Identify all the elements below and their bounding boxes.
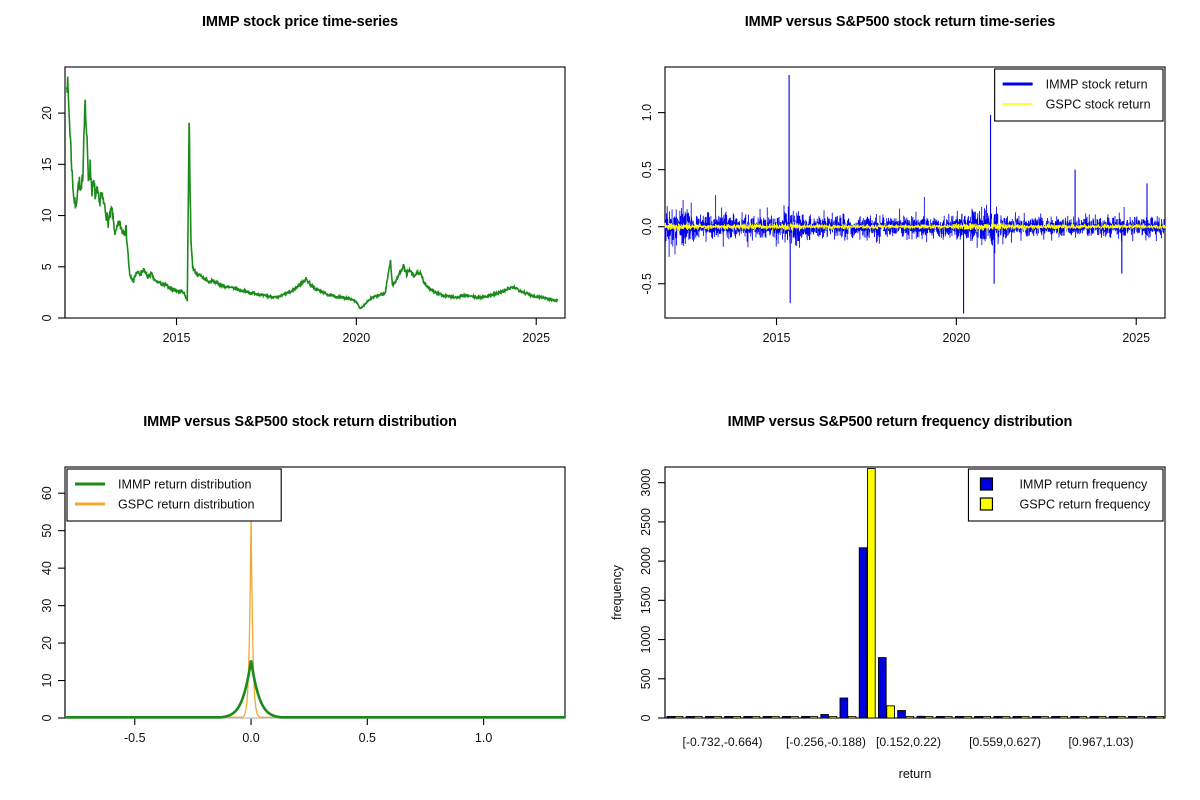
x-tick-label: 2015: [763, 331, 791, 345]
y-tick-label: 0: [639, 714, 653, 721]
y-tick-label: 30: [40, 599, 54, 613]
histogram-bar: [936, 716, 944, 718]
histogram-bar: [1013, 716, 1021, 718]
histogram-bar: [810, 716, 818, 718]
histogram-bar: [1079, 716, 1087, 718]
y-tick-label: 10: [40, 674, 54, 688]
histogram-bar: [802, 716, 810, 718]
histogram-bar: [694, 716, 702, 718]
histogram-bar: [1148, 716, 1156, 718]
histogram-bar: [878, 658, 886, 718]
x-tick-label: [-0.732,-0.664): [683, 735, 763, 749]
histogram-bar: [829, 716, 837, 718]
histogram-bar: [791, 716, 799, 718]
x-tick-label: 2020: [342, 331, 370, 345]
histogram-bar: [975, 716, 983, 718]
legend-return-timeseries: IMMP stock returnGSPC stock return: [995, 69, 1163, 121]
histogram-bar: [906, 716, 914, 718]
histogram-bar: [744, 716, 752, 718]
y-tick-label: 2500: [639, 508, 653, 536]
y-tick-label: 1000: [639, 626, 653, 654]
histogram-bar: [898, 711, 906, 718]
panel-return-timeseries: IMMP versus S&P500 stock return time-ser…: [600, 0, 1200, 400]
histogram-bar: [1098, 716, 1106, 718]
plot-box: [65, 67, 565, 318]
histogram-bar: [983, 716, 991, 718]
histogram-bar: [848, 716, 856, 718]
y-tick-label: 20: [40, 106, 54, 120]
y-tick-label: -0.5: [640, 273, 654, 295]
histogram-bar: [705, 716, 713, 718]
x-tick-label: [-0.256,-0.188): [786, 735, 866, 749]
histogram-bar: [1118, 716, 1126, 718]
legend-return-frequency: IMMP return frequencyGSPC return frequen…: [968, 469, 1163, 521]
histogram-bar: [714, 716, 722, 718]
histogram-bar: [686, 716, 694, 718]
histogram-bar: [868, 469, 876, 718]
histogram-bar: [1109, 716, 1117, 718]
legend-return-distribution: IMMP return distributionGSPC return dist…: [67, 469, 281, 521]
histogram-bar: [1060, 716, 1068, 718]
histogram-bar: [1032, 716, 1040, 718]
y-tick-label: 0.0: [640, 218, 654, 235]
histogram-bar: [1156, 716, 1164, 718]
histogram-bar: [1021, 716, 1029, 718]
price-line: [67, 76, 558, 308]
legend-label: GSPC stock return: [1046, 98, 1151, 112]
x-tick-label: 2025: [522, 331, 550, 345]
histogram-bar: [771, 716, 779, 718]
density-curve: [65, 660, 565, 717]
y-tick-label: 60: [40, 486, 54, 500]
return-frequency-plot: 050010001500200025003000 [-0.732,-0.664)…: [600, 400, 1200, 800]
histogram-bar: [964, 716, 972, 718]
histogram-bar: [925, 716, 933, 718]
y-tick-label: 500: [639, 668, 653, 689]
x-tick-label: [0.967,1.03): [1068, 735, 1133, 749]
y-tick-label: 50: [40, 524, 54, 538]
histogram-bar: [763, 716, 771, 718]
histogram-bar: [1002, 716, 1010, 718]
histogram-bar: [994, 716, 1002, 718]
histogram-bar: [955, 716, 963, 718]
return-distribution-plot: 0102030405060 -0.50.00.51.0 IMMP return …: [0, 400, 600, 800]
histogram-bar: [1041, 716, 1049, 718]
x-tick-label: -0.5: [124, 731, 146, 745]
price-timeseries-plot: 05101520 201520202025: [0, 0, 600, 400]
legend-swatch: [980, 478, 992, 490]
histogram-bar: [1090, 716, 1098, 718]
histogram-bar: [1071, 716, 1079, 718]
y-tick-label: 0: [40, 314, 54, 321]
y-axis-title: frequency: [610, 564, 624, 620]
histogram-bar: [1137, 716, 1145, 718]
x-tick-label: 0.0: [242, 731, 259, 745]
y-tick-label: 0: [40, 714, 54, 721]
histogram-bar: [1128, 716, 1136, 718]
figure-canvas: IMMP stock price time-series 05101520 20…: [0, 0, 1200, 800]
x-tick-label: [0.152,0.22): [876, 735, 941, 749]
legend-label: GSPC return frequency: [1019, 498, 1151, 512]
y-tick-label: 2000: [639, 547, 653, 575]
return-timeseries-plot: -0.50.00.51.0 201520202025 IMMP stock re…: [600, 0, 1200, 400]
x-tick-label: 2025: [1122, 331, 1150, 345]
histogram-bar: [725, 716, 733, 718]
histogram-bar: [887, 706, 895, 718]
legend-label: IMMP return frequency: [1019, 478, 1148, 492]
panel-return-frequency: IMMP versus S&P500 return frequency dist…: [600, 400, 1200, 800]
legend-swatch: [980, 498, 992, 510]
y-tick-label: 15: [40, 157, 54, 171]
legend-label: IMMP stock return: [1046, 78, 1148, 92]
y-tick-label: 0.5: [640, 161, 654, 178]
histogram-bar: [733, 716, 741, 718]
histogram-bar: [782, 716, 790, 718]
histogram-bar: [821, 714, 829, 718]
y-tick-label: 10: [40, 209, 54, 223]
x-tick-label: 2015: [163, 331, 191, 345]
y-tick-label: 1.0: [640, 104, 654, 121]
panel-price-timeseries: IMMP stock price time-series 05101520 20…: [0, 0, 600, 400]
x-axis-title: return: [899, 767, 932, 781]
histogram-bar: [917, 716, 925, 718]
histogram-bar: [859, 548, 867, 718]
y-tick-label: 5: [40, 263, 54, 270]
x-tick-label: 2020: [942, 331, 970, 345]
legend-label: GSPC return distribution: [118, 498, 255, 512]
x-tick-label: 0.5: [359, 731, 376, 745]
histogram-bar: [667, 716, 675, 718]
x-tick-label: 1.0: [475, 731, 492, 745]
histogram-bar: [675, 716, 683, 718]
histogram-bar: [752, 716, 760, 718]
panel-return-distribution: IMMP versus S&P500 stock return distribu…: [0, 400, 600, 800]
y-tick-label: 20: [40, 636, 54, 650]
y-tick-label: 3000: [639, 469, 653, 497]
histogram-bar: [944, 716, 952, 718]
density-curve: [65, 518, 565, 717]
histogram-bar: [1052, 716, 1060, 718]
y-tick-label: 1500: [639, 586, 653, 614]
legend-label: IMMP return distribution: [118, 478, 251, 492]
y-tick-label: 40: [40, 561, 54, 575]
histogram-bar: [840, 698, 848, 718]
x-tick-label: [0.559,0.627): [969, 735, 1041, 749]
